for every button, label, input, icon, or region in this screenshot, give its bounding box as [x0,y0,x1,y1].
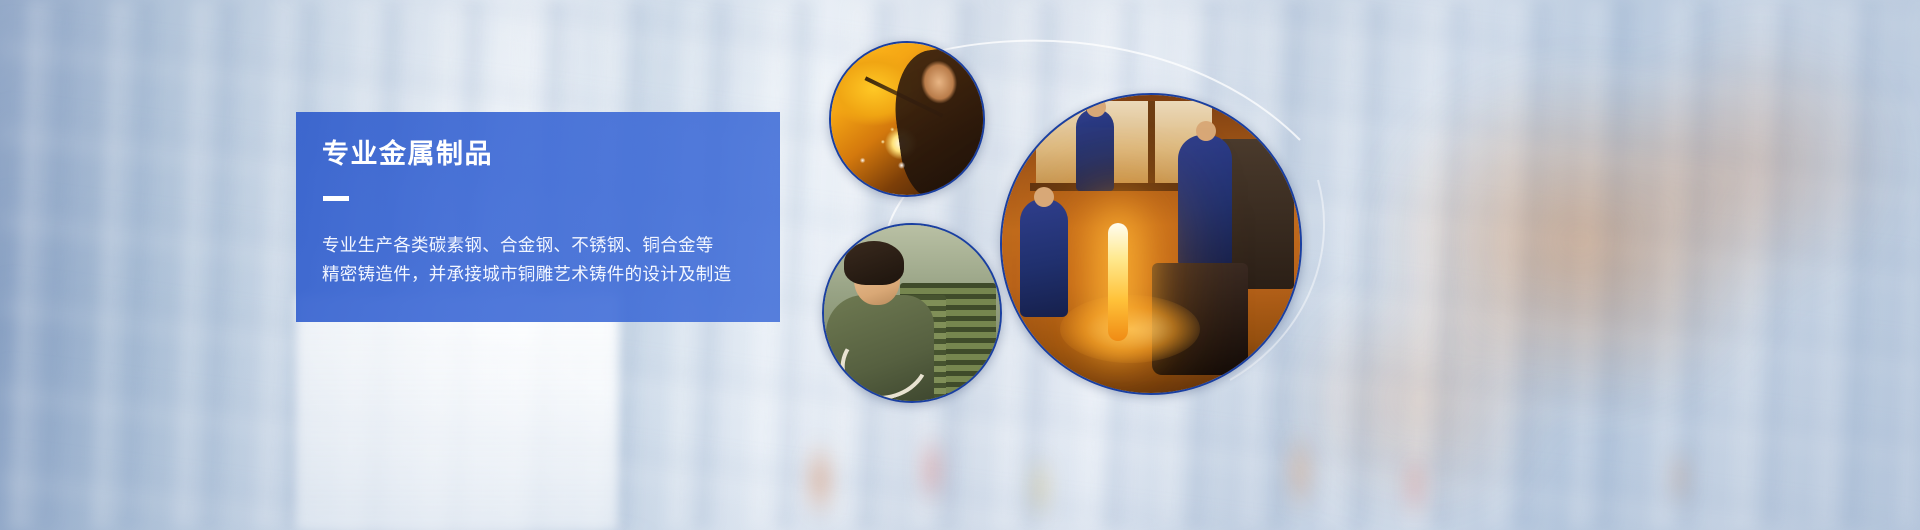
foundry-worker [1076,109,1114,191]
title-divider [323,196,349,201]
molten-glow [1060,295,1200,363]
promo-description: 专业生产各类碳素钢、合金钢、不锈钢、铜合金等 精密铸造件，并承接城市铜雕艺术铸件… [322,231,766,289]
promo-description-line-2: 精密铸造件，并承接城市铜雕艺术铸件的设计及制造 [322,260,766,289]
foundry-worker [1178,135,1232,267]
worker-head [1196,121,1216,141]
molten-metal-stream [1108,223,1128,341]
promo-description-line-1: 专业生产各类碳素钢、合金钢、不锈钢、铜合金等 [322,231,766,260]
window-mullion [1148,101,1155,187]
photo-welding-sparks [829,41,985,197]
hero-banner: 专业金属制品 专业生产各类碳素钢、合金钢、不锈钢、铜合金等 精密铸造件，并承接城… [0,0,1920,530]
technician-hair [844,241,904,285]
promo-text-inner: 专业金属制品 专业生产各类碳素钢、合金钢、不锈钢、铜合金等 精密铸造件，并承接城… [322,140,766,289]
worker-head [1034,187,1054,207]
foundry-worker [1020,199,1068,317]
promo-text-panel: 专业金属制品 专业生产各类碳素钢、合金钢、不锈钢、铜合金等 精密铸造件，并承接城… [296,112,780,322]
worker-head [1086,97,1106,117]
page-title: 专业金属制品 [322,140,766,170]
photo-technician-inspection [822,223,1002,403]
spark-particles [847,117,925,179]
photo-foundry-pour [1000,93,1302,395]
